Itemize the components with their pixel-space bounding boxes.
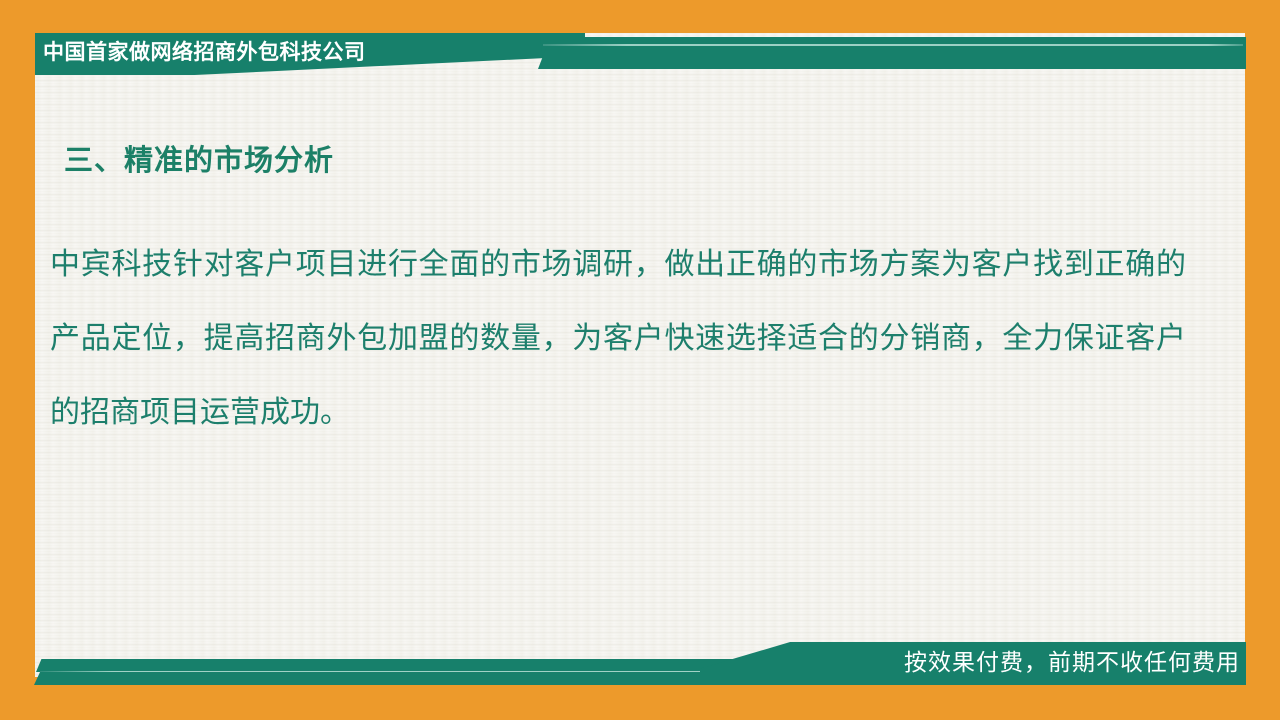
body-paragraph: 中宾科技针对客户项目进行全面的市场调研，做出正确的市场方案为客户找到正确的产品定… [50, 228, 1186, 450]
header-accent-strip-lower [538, 47, 1246, 69]
footer-slogan: 按效果付费，前期不收任何费用 [904, 647, 1240, 680]
header-accent-hairline [543, 44, 1243, 46]
slide-canvas: 中国首家做网络招商外包科技公司 三、精准的市场分析 中宾科技针对客户项目进行全面… [0, 0, 1280, 720]
page-title: 三、精准的市场分析 [64, 137, 334, 179]
header-company-tagline: 中国首家做网络招商外包科技公司 [43, 34, 366, 70]
